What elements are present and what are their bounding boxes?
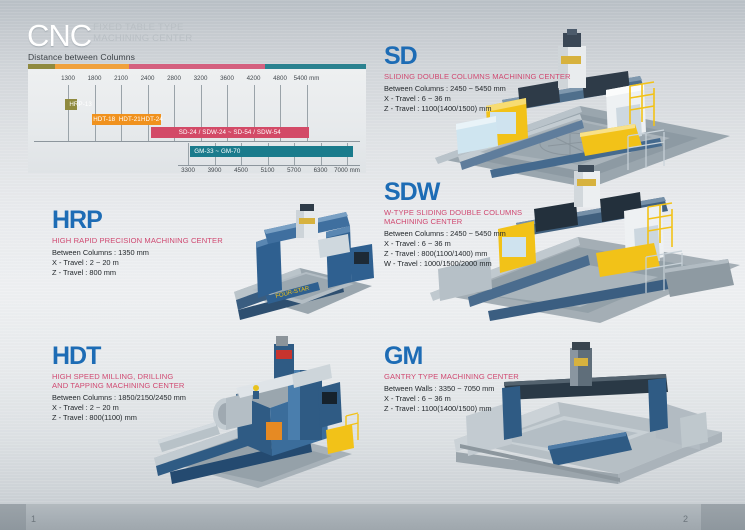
chart-bar: HDT-21 [117,114,144,125]
product-subtitle-sdw: W-TYPE SLIDING DOUBLE COLUMNS MACHINING … [384,208,522,226]
product-subtitle-gm: GANTRY TYPE MACHINING CENTER [384,372,519,381]
product-subtitle-hdt: HIGH SPEED MILLING, DRILLING AND TAPPING… [52,372,186,390]
spec-gm-1: X - Travel : 6 ~ 36 m [384,394,519,404]
product-block-hdt: HDT HIGH SPEED MILLING, DRILLING AND TAP… [52,344,186,423]
product-name-sdw: SDW [384,180,522,205]
chart-gridline-top [148,85,149,141]
chart-tick-label-bottom: 7000 mm [334,167,360,174]
chart-tick-label-top: 1800 [88,75,102,82]
spec-hrp-1: X - Travel : 2 ~ 20 m [52,258,223,268]
spec-hrp-0: Between Columns : 1350 mm [52,248,223,258]
product-block-sdw: SDW W-TYPE SLIDING DOUBLE COLUMNS MACHIN… [384,180,522,269]
chart-tick-label-bottom: 3300 [181,167,195,174]
product-subtitle-hdt-line1: HIGH SPEED MILLING, DRILLING [52,372,186,381]
spec-sd-0: Between Columns : 2450 ~ 5450 mm [384,84,571,94]
chart-title: Distance between Columns [28,52,135,62]
product-subtitle-hdt-line2: AND TAPPING MACHINING CENTER [52,381,186,390]
chart-tick-label-top: 5400 mm [294,75,320,82]
chart-bar: HRP-13 [65,99,77,110]
product-specs-sd: Between Columns : 2450 ~ 5450 mm X - Tra… [384,84,571,114]
product-name-sd: SD [384,44,571,69]
chart-tick-label-top: 4800 [273,75,287,82]
chart-bar: SD-24 / SDW-24 ~ SD-54 / SDW-54 [151,127,309,138]
spec-sdw-0: Between Columns : 2450 ~ 5450 mm [384,229,522,239]
chart-gridline-top [121,85,122,141]
chart-axis-line-bottom [178,165,360,166]
chart-tick-label-top: 2800 [167,75,181,82]
chart-tick-label-bottom: 5700 [287,167,301,174]
product-block-gm: GM GANTRY TYPE MACHINING CENTER Between … [384,344,519,414]
logo-subtitle-line2: MACHINING CENTER [93,34,192,45]
product-subtitle-sd: SLIDING DOUBLE COLUMNS MACHINING CENTER [384,72,571,81]
spec-hdt-0: Between Columns : 1850/2150/2450 mm [52,393,186,403]
logo-cnc-text: CNC [27,21,91,50]
product-name-hdt: HDT [52,344,186,369]
chart-axis-line-top [34,141,360,142]
brand-logo: CNC FIXED TABLE TYPE MACHINING CENTER [27,21,192,50]
page-number-left: 1 [31,514,36,524]
chart-plot-area: 1300180021002400280032003600420048005400… [28,69,366,173]
chart-gridline-top [68,85,69,141]
spec-gm-2: Z - Travel : 1100(1400/1500) mm [384,404,519,414]
logo-subtitle: FIXED TABLE TYPE MACHINING CENTER [93,23,192,44]
spec-sd-2: Z - Travel : 1100(1400/1500) mm [384,104,571,114]
chart-bar: HDT-18 [92,114,117,125]
chart-gridline-bottom [188,143,189,165]
product-specs-sdw: Between Columns : 2450 ~ 5450 mm X - Tra… [384,229,522,269]
footer-bar-left [0,504,380,530]
chart-tick-label-bottom: 4500 [234,167,248,174]
chart-bar: HDT-24 [143,114,161,125]
product-subtitle-sdw-line1: W-TYPE SLIDING DOUBLE COLUMNS [384,208,522,217]
product-name-hrp: HRP [52,208,223,233]
product-subtitle-hrp: HIGH RAPID PRECISION MACHINING CENTER [52,236,223,245]
footer-cap-right [701,504,745,530]
spec-gm-0: Between Walls : 3350 ~ 7050 mm [384,384,519,394]
spec-sd-1: X - Travel : 6 ~ 36 m [384,94,571,104]
logo-subtitle-line1: FIXED TABLE TYPE [93,23,192,34]
product-block-sd: SD SLIDING DOUBLE COLUMNS MACHINING CENT… [384,44,571,114]
chart-tick-label-bottom: 3900 [208,167,222,174]
spec-hrp-2: Z - Travel : 800 mm [52,268,223,278]
chart-tick-label-top: 3200 [194,75,208,82]
product-name-gm: GM [384,344,519,369]
product-subtitle-sdw-line2: MACHINING CENTER [384,217,522,226]
spec-hdt-2: Z - Travel : 800(1100) mm [52,413,186,423]
product-specs-gm: Between Walls : 3350 ~ 7050 mm X - Trave… [384,384,519,414]
product-specs-hrp: Between Columns : 1350 mm X - Travel : 2… [52,248,223,278]
spec-sdw-1: X - Travel : 6 ~ 36 m [384,239,522,249]
distance-between-columns-chart: Distance between Columns 130018002100240… [28,52,366,173]
chart-bar: GM-33 ~ GM-70 [190,146,353,157]
chart-tick-label-top: 2400 [141,75,155,82]
spec-sdw-3: W - Travel : 1000/1500/2000 mm [384,259,522,269]
content-layer: CNC FIXED TABLE TYPE MACHINING CENTER Di… [0,0,745,530]
footer-bar-right [373,504,745,530]
product-specs-hdt: Between Columns : 1850/2150/2450 mm X - … [52,393,186,423]
page-number-right: 2 [683,514,688,524]
spec-hdt-1: X - Travel : 2 ~ 20 m [52,403,186,413]
chart-tick-label-top: 2100 [114,75,128,82]
chart-tick-label-bottom: 5100 [261,167,275,174]
chart-tick-label-top: 4200 [247,75,261,82]
chart-tick-label-top: 1300 [61,75,75,82]
footer-cap-left [0,504,26,530]
spec-sdw-2: Z - Travel : 800(1100/1400) mm [384,249,522,259]
product-block-hrp: HRP HIGH RAPID PRECISION MACHINING CENTE… [52,208,223,278]
chart-gridline-top [95,85,96,141]
chart-tick-label-top: 3600 [220,75,234,82]
chart-tick-label-bottom: 6300 [314,167,328,174]
